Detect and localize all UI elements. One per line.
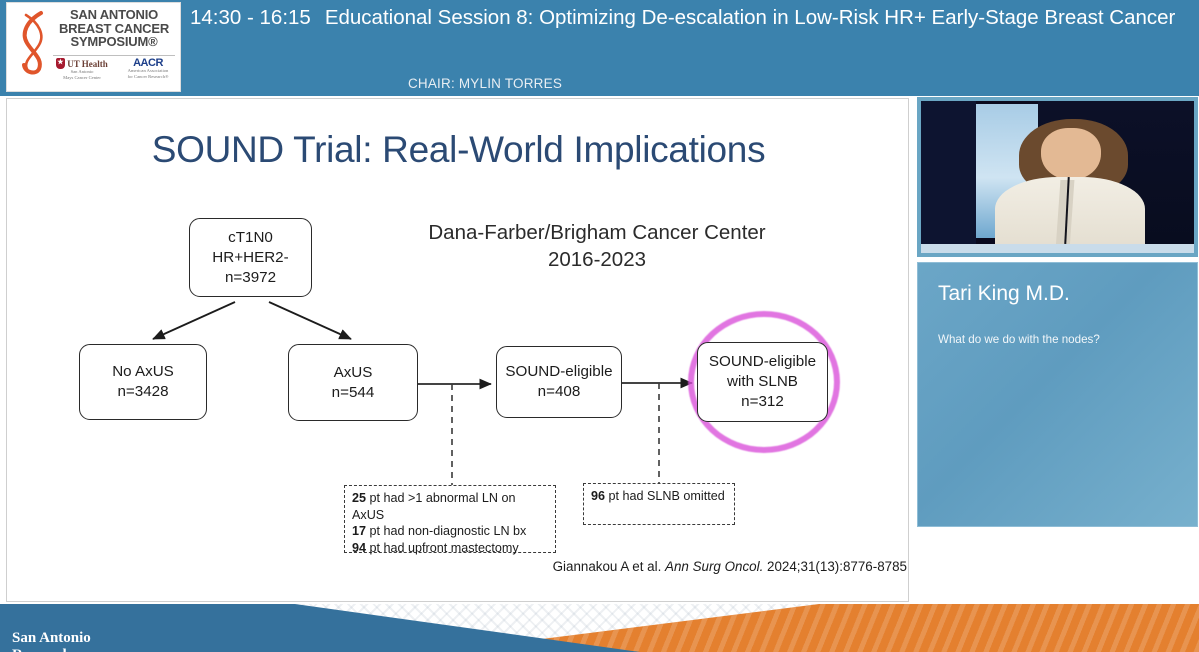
- speaker-face: [1041, 128, 1101, 180]
- callout-right-item-1: 96 pt had SLNB omitted: [591, 488, 727, 505]
- speaker-info-panel: Tari King M.D. What do we do with the no…: [917, 262, 1198, 527]
- presentation-slide[interactable]: SOUND Trial: Real-World Implications Dan…: [6, 98, 909, 602]
- ut-health-title: UT Health: [51, 58, 113, 69]
- footer-brand-text: San Antonio Research: [12, 630, 91, 652]
- aacr-logo: AACR American Association for Cancer Res…: [117, 58, 179, 80]
- eligible-count: n=408: [505, 382, 612, 402]
- aacr-title: AACR: [117, 58, 179, 68]
- session-title-text: Educational Session 8: Optimizing De-esc…: [325, 6, 1176, 29]
- speaker-name: Tari King M.D.: [938, 281, 1177, 307]
- flow-box-sound-eligible: SOUND-eligible n=408: [496, 346, 622, 418]
- logo-line-2: BREAST CANCER: [51, 22, 177, 36]
- callout-right-num-1: 96: [591, 489, 605, 503]
- sabcs-logo: SAN ANTONIO BREAST CANCER SYMPOSIUM® UT …: [6, 2, 181, 92]
- ut-health-logo: UT Health San Antonio Mays Cancer Center: [51, 58, 113, 80]
- sabcs-wordmark: SAN ANTONIO BREAST CANCER SYMPOSIUM®: [51, 8, 177, 49]
- cohort-line-1: cT1N0: [212, 228, 288, 248]
- session-header-bar: SAN ANTONIO BREAST CANCER SYMPOSIUM® UT …: [0, 0, 1199, 96]
- callout-left-text-3: pt had upfront mastectomy: [366, 541, 519, 555]
- callout-left-num-3: 94: [352, 541, 366, 555]
- speaker-video-feed[interactable]: [917, 97, 1198, 257]
- footer-brand-line-1: San Antonio: [12, 630, 91, 647]
- aacr-sub-2: for Cancer Research®: [117, 74, 179, 80]
- session-title: 14:30 - 16:15Educational Session 8: Opti…: [190, 3, 1195, 33]
- session-time: 14:30 - 16:15: [190, 6, 311, 29]
- no-axus-label: No AxUS: [112, 362, 174, 382]
- footer-banner: San Antonio Research: [0, 604, 1199, 652]
- callout-left-item-3: 94 pt had upfront mastectomy: [352, 540, 548, 557]
- speaker-topic: What do we do with the nodes?: [938, 333, 1177, 346]
- podium-surface: [921, 244, 1194, 253]
- slnb-line-1: SOUND-eligible: [709, 352, 816, 372]
- video-wall-left: [921, 101, 976, 253]
- slnb-line-2: with SLNB: [709, 372, 816, 392]
- axus-label: AxUS: [332, 363, 375, 383]
- flow-box-axus: AxUS n=544: [288, 344, 418, 421]
- axus-count: n=544: [332, 383, 375, 403]
- callout-right-text-1: pt had SLNB omitted: [605, 489, 725, 503]
- callout-left-text-2: pt had non-diagnostic LN bx: [366, 524, 526, 538]
- slnb-count: n=312: [709, 392, 816, 412]
- callout-left-num-2: 17: [352, 524, 366, 538]
- callout-left-num-1: 25: [352, 491, 366, 505]
- callout-slnb-omitted: 96 pt had SLNB omitted: [583, 483, 735, 525]
- eligible-label: SOUND-eligible: [505, 362, 612, 382]
- callout-exclusions-left: 25 pt had >1 abnormal LN on AxUS 17 pt h…: [344, 485, 556, 553]
- callout-left-item-1: 25 pt had >1 abnormal LN on AxUS: [352, 490, 548, 523]
- partner-logos: UT Health San Antonio Mays Cancer Center…: [51, 58, 179, 80]
- no-axus-count: n=3428: [112, 382, 174, 402]
- sabcs-ribbon-icon: [15, 9, 51, 75]
- cohort-line-2: HR+HER2-: [212, 248, 288, 268]
- cohort-line-3: n=3972: [212, 268, 288, 288]
- session-chair: CHAIR: MYLIN TORRES: [190, 76, 780, 91]
- logo-line-3: SYMPOSIUM®: [51, 35, 177, 49]
- flow-box-sound-eligible-slnb: SOUND-eligible with SLNB n=312: [697, 342, 828, 422]
- ut-health-shield-icon: [56, 58, 65, 69]
- callout-left-item-2: 17 pt had non-diagnostic LN bx: [352, 523, 548, 540]
- flow-box-no-axus: No AxUS n=3428: [79, 344, 207, 420]
- logo-line-1: SAN ANTONIO: [51, 8, 177, 22]
- logo-divider: [53, 55, 175, 56]
- footer-brand-line-2: Research: [12, 647, 91, 652]
- callout-left-text-1: pt had >1 abnormal LN on AxUS: [352, 491, 516, 522]
- flow-box-cohort: cT1N0 HR+HER2- n=3972: [189, 218, 312, 297]
- speaker-video-image: [921, 101, 1194, 253]
- ut-health-sub-2: Mays Cancer Center: [51, 75, 113, 81]
